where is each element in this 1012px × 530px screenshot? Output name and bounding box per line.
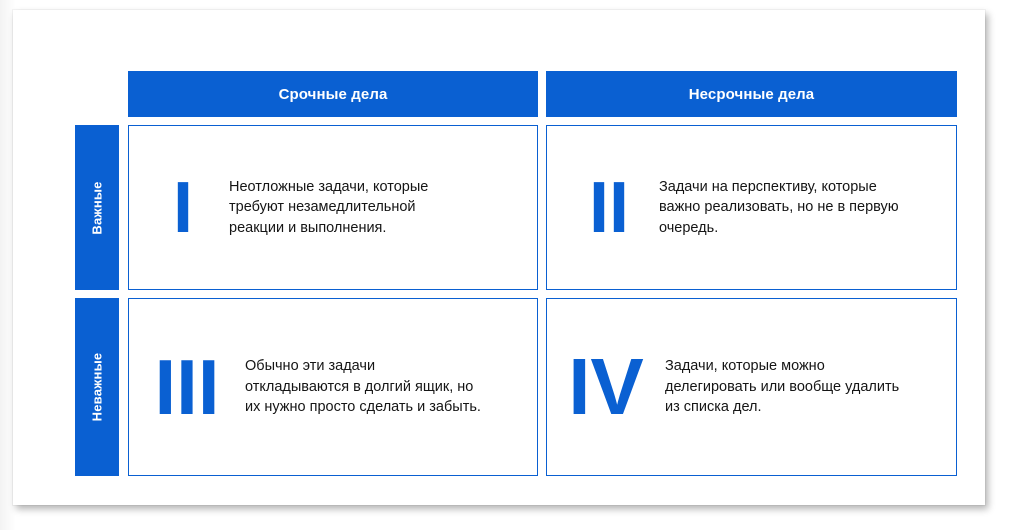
quadrant-4-description: Задачи, которые можно делегировать или в… <box>665 356 929 418</box>
page-frame: Срочные дела Несрочные дела Важные Неваж… <box>0 0 1012 530</box>
column-header-not-urgent-label: Несрочные дела <box>689 86 815 103</box>
quadrant-card-2: II Задачи на перспективу, которые важно … <box>546 125 957 290</box>
quadrant-2-description: Задачи на перспективу, которые важно реа… <box>659 177 933 239</box>
quadrant-2-numeral: II <box>559 172 659 244</box>
quadrant-1-numeral: I <box>137 172 229 244</box>
page-sheet: Срочные дела Несрочные дела Важные Неваж… <box>13 10 985 505</box>
quadrant-1-description: Неотложные задачи, которые требуют незам… <box>229 177 488 239</box>
quadrant-3-description: Обычно эти задачи откладываются в долгий… <box>245 356 495 418</box>
row-label-important: Важные <box>75 125 119 290</box>
column-header-urgent-label: Срочные дела <box>279 86 388 103</box>
column-header-urgent: Срочные дела <box>128 71 538 117</box>
quadrant-card-4: IV Задачи, которые можно делегировать ил… <box>546 298 957 476</box>
column-header-not-urgent: Несрочные дела <box>546 71 957 117</box>
eisenhower-matrix: Срочные дела Несрочные дела Важные Неваж… <box>75 71 957 476</box>
quadrant-3-numeral: III <box>129 348 245 426</box>
row-label-important-text: Важные <box>90 181 105 234</box>
quadrant-4-numeral: IV <box>547 347 665 427</box>
quadrant-card-1: I Неотложные задачи, которые требуют нез… <box>128 125 538 290</box>
quadrant-card-3: III Обычно эти задачи откладываются в до… <box>128 298 538 476</box>
row-label-unimportant-text: Неважные <box>90 353 105 422</box>
row-label-unimportant: Неважные <box>75 298 119 476</box>
